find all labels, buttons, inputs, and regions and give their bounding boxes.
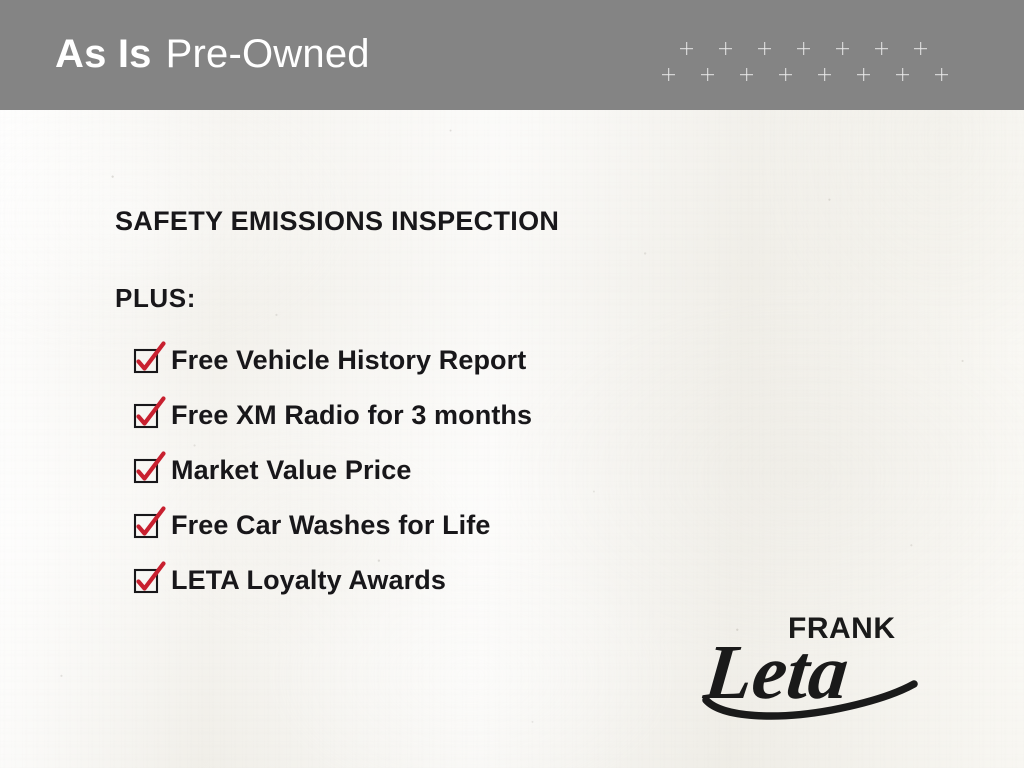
list-item: LETA Loyalty Awards xyxy=(135,553,875,608)
frank-leta-logo: FRANK Leta xyxy=(700,606,928,722)
plus-icon xyxy=(875,42,888,55)
plus-icon xyxy=(836,42,849,55)
plus-decoration-grid xyxy=(662,42,1002,90)
plus-icon xyxy=(896,68,909,81)
plus-icon xyxy=(680,42,693,55)
checked-checkbox-icon xyxy=(135,515,157,537)
checked-checkbox-icon xyxy=(135,460,157,482)
list-item-label: LETA Loyalty Awards xyxy=(171,567,446,594)
list-item: Free XM Radio for 3 months xyxy=(135,388,875,443)
list-item-label: Free Vehicle History Report xyxy=(171,347,526,374)
plus-icon xyxy=(662,68,675,81)
list-item: Free Car Washes for Life xyxy=(135,498,875,553)
headline-text: SAFETY EMISSIONS INSPECTION xyxy=(115,205,875,237)
slide-canvas: As IsPre-Owned xyxy=(0,0,1024,768)
header-band: As IsPre-Owned xyxy=(0,0,1024,110)
plus-icon xyxy=(857,68,870,81)
page-title: As IsPre-Owned xyxy=(55,34,370,74)
plus-icon xyxy=(758,42,771,55)
list-item: Free Vehicle History Report xyxy=(135,333,875,388)
plus-icon xyxy=(740,68,753,81)
plus-icon xyxy=(701,68,714,81)
plus-icon xyxy=(818,68,831,81)
plus-section-label: PLUS: xyxy=(115,285,875,311)
content-area: SAFETY EMISSIONS INSPECTION PLUS: Free V… xyxy=(115,205,875,608)
list-item-label: Free XM Radio for 3 months xyxy=(171,402,532,429)
checked-checkbox-icon xyxy=(135,405,157,427)
page-title-strong: As Is xyxy=(55,32,152,76)
list-item-label: Free Car Washes for Life xyxy=(171,512,491,539)
plus-icon xyxy=(719,42,732,55)
benefits-checklist: Free Vehicle History Report Free XM Radi… xyxy=(115,333,875,608)
plus-icon xyxy=(914,42,927,55)
plus-icon xyxy=(779,68,792,81)
plus-icon xyxy=(797,42,810,55)
checked-checkbox-icon xyxy=(135,570,157,592)
logo-leta-script: Leta xyxy=(700,628,853,715)
checked-checkbox-icon xyxy=(135,350,157,372)
list-item: Market Value Price xyxy=(135,443,875,498)
plus-decoration-row-top xyxy=(680,42,927,55)
page-title-light: Pre-Owned xyxy=(166,32,370,76)
plus-icon xyxy=(935,68,948,81)
list-item-label: Market Value Price xyxy=(171,457,411,484)
plus-decoration-row-bottom xyxy=(662,68,948,81)
